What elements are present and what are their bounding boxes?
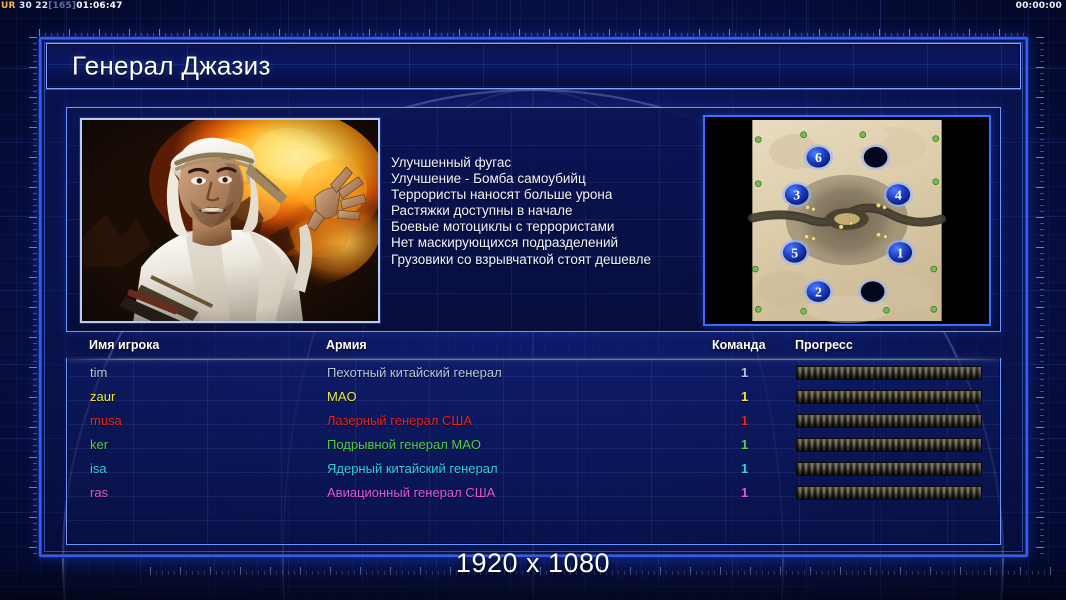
svg-text:4: 4 — [895, 187, 902, 202]
ruler-left — [28, 37, 37, 557]
player-army: Лазерный генерал США — [327, 409, 472, 433]
player-army: Пехотный китайский генерал — [327, 361, 502, 385]
player-army: Ядерный китайский генерал — [327, 457, 498, 481]
column-header-army: Армия — [326, 338, 367, 352]
page-title: Генерал Джазиз — [72, 51, 271, 82]
progress-bar — [796, 462, 982, 476]
description-line: Террористы наносят больше урона — [391, 187, 711, 203]
player-army: Авиационный генерал США — [327, 481, 495, 505]
portrait-image — [82, 120, 378, 321]
title-bar: Генерал Джазиз — [46, 43, 1021, 89]
progress-bar — [796, 390, 982, 404]
player-team: 1 — [741, 433, 781, 457]
player-team: 1 — [741, 361, 781, 385]
player-team: 1 — [741, 409, 781, 433]
player-name: ras — [90, 481, 108, 505]
top-status-bar: UR 30 22[165]01:06:47 00:00:00 — [0, 0, 1066, 12]
description-line: Улучшенный фугас — [391, 155, 711, 171]
resolution-overlay: 1920 x 1080 — [0, 548, 1066, 579]
svg-text:2: 2 — [815, 285, 822, 300]
svg-text:3: 3 — [793, 187, 800, 202]
player-name: zaur — [90, 385, 115, 409]
status-elapsed-time: 01:06:47 — [76, 1, 122, 11]
player-team: 1 — [741, 385, 781, 409]
progress-bar — [796, 438, 982, 452]
table-row[interactable]: isaЯдерный китайский генерал1 — [67, 457, 1000, 481]
column-header-name: Имя игрока — [89, 338, 159, 352]
player-name: isa — [90, 457, 107, 481]
description-line: Растяжки доступны в начале — [391, 203, 711, 219]
ruler-right — [1035, 37, 1044, 557]
player-table-header: Имя игрока Армия Команда Прогресс — [66, 338, 1001, 358]
map-preview-image: 6 3 4 5 1 — [705, 117, 989, 324]
table-row[interactable]: timПехотный китайский генерал1 — [67, 361, 1000, 385]
ruler-top — [39, 28, 1028, 37]
player-name: tim — [90, 361, 107, 385]
table-row[interactable]: zaurMAO1 — [67, 385, 1000, 409]
status-ur-label: UR — [1, 1, 16, 11]
description-line: Улучшение - Бомба самоубийц — [391, 171, 711, 187]
player-team: 1 — [741, 481, 781, 505]
status-left: UR 30 22[165]01:06:47 — [1, 0, 123, 12]
general-info-box: Улучшенный фугас Улучшение - Бомба самоу… — [66, 107, 1001, 332]
description-line: Нет маскирующихся подразделений — [391, 235, 711, 251]
player-name: musa — [90, 409, 122, 433]
description-line: Боевые мотоциклы с террористами — [391, 219, 711, 235]
column-header-progress: Прогресс — [795, 338, 853, 352]
svg-text:6: 6 — [815, 150, 822, 165]
player-army: MAO — [327, 385, 357, 409]
status-value-b: 22 — [35, 1, 48, 11]
general-description-list: Улучшенный фугас Улучшение - Бомба самоу… — [391, 155, 711, 268]
player-progress — [796, 438, 982, 452]
svg-text:1: 1 — [897, 245, 904, 260]
game-lobby-screen: UR 30 22[165]01:06:47 00:00:00 Генерал Д… — [0, 0, 1066, 600]
player-progress — [796, 462, 982, 476]
table-row[interactable]: musaЛазерный генерал США1 — [67, 409, 1000, 433]
table-row[interactable]: kerПодрывной генерал MAO1 — [67, 433, 1000, 457]
player-army: Подрывной генерал MAO — [327, 433, 481, 457]
player-progress — [796, 486, 982, 500]
progress-bar — [796, 366, 982, 380]
column-header-team: Команда — [712, 338, 766, 352]
player-progress — [796, 390, 982, 404]
svg-text:5: 5 — [791, 245, 798, 260]
player-rows: timПехотный китайский генерал1zaurMAO1mu… — [67, 361, 1000, 505]
progress-bar — [796, 486, 982, 500]
description-line: Грузовики со взрывчаткой стоят дешевле — [391, 252, 711, 268]
player-progress — [796, 366, 982, 380]
progress-bar — [796, 414, 982, 428]
status-bracket-value: [165] — [48, 1, 76, 11]
status-value-a: 30 — [19, 1, 32, 11]
player-team: 1 — [741, 457, 781, 481]
map-preview[interactable]: 6 3 4 5 1 — [703, 115, 991, 326]
table-row[interactable]: rasАвиационный генерал США1 — [67, 481, 1000, 505]
status-right-timer: 00:00:00 — [1016, 0, 1062, 12]
player-progress — [796, 414, 982, 428]
player-table: timПехотный китайский генерал1zaurMAO1mu… — [66, 358, 1001, 545]
player-name: ker — [90, 433, 108, 457]
general-portrait — [80, 118, 380, 323]
